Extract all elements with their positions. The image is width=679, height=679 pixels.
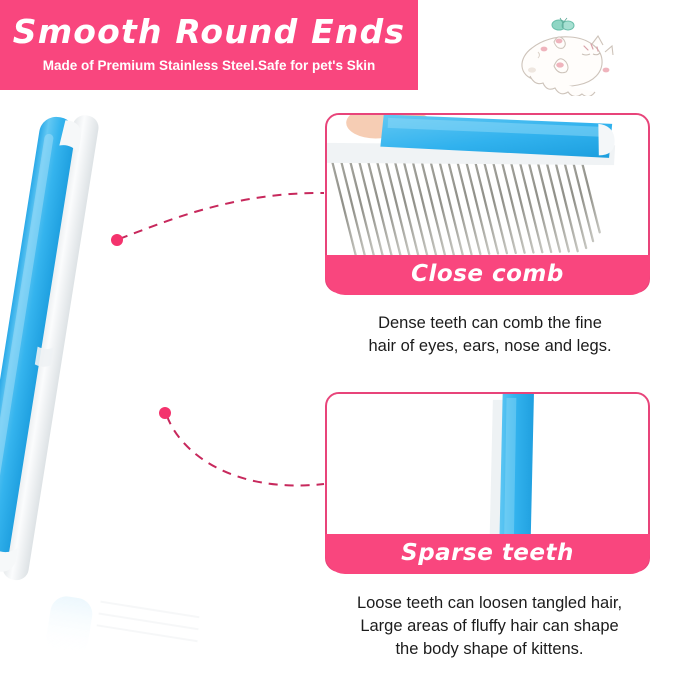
cat-body [522,36,613,96]
cat-mascot-illustration [508,14,618,96]
banner-subtitle: Made of Premium Stainless Steel.Safe for… [0,58,418,73]
panel-label-close-comb: Close comb [325,255,650,295]
comb-reflection [44,594,201,658]
panel-label-close-comb-text: Close comb [325,255,650,293]
infographic-page: Smooth Round Ends Made of Premium Stainl… [0,0,679,679]
butterfly-icon [552,18,574,30]
header-banner: Smooth Round Ends Made of Premium Stainl… [0,0,418,90]
panel-label-sparse-teeth: Sparse teeth [325,534,650,574]
panel-label-sparse-teeth-text: Sparse teeth [325,534,650,572]
main-comb-illustration [0,100,310,660]
sparse-teeth-group [23,413,228,596]
caption-sparse-teeth: Loose teeth can loosen tangled hair, Lar… [300,592,679,661]
caption-close-comb: Dense teeth can comb the fine hair of ey… [320,312,660,358]
banner-title: Smooth Round Ends [0,12,418,51]
